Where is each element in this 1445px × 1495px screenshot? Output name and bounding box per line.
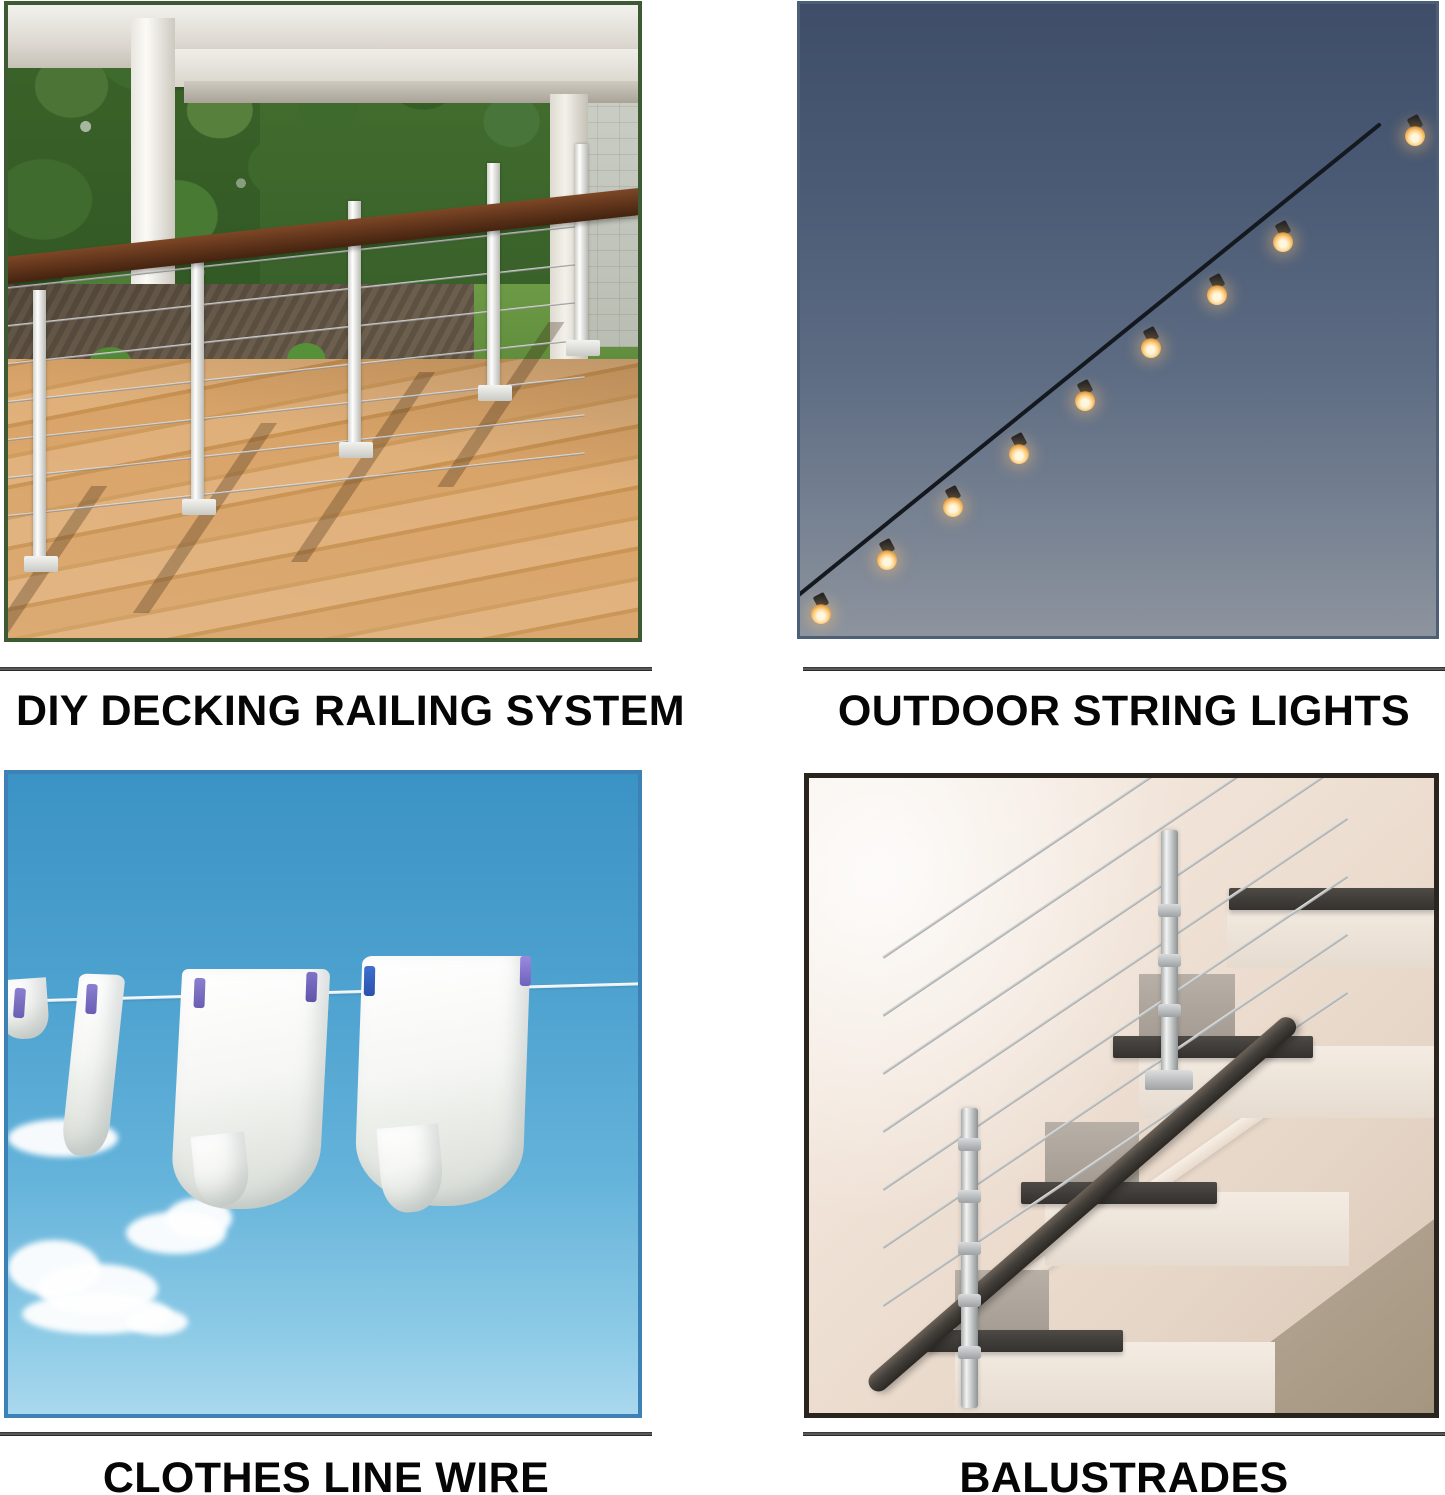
string-lights-photo: [797, 1, 1439, 639]
deck-scene: [8, 5, 638, 638]
caption-diy-decking-railing-system: DIY DECKING RAILING SYSTEM: [0, 667, 652, 736]
light-bulb: [942, 487, 964, 517]
wood-deck-floor: [8, 359, 638, 638]
caption-clothes-line-wire: CLOTHES LINE WIRE: [0, 1432, 652, 1495]
cable-fitting: [1158, 1004, 1181, 1017]
clothespin: [520, 956, 532, 986]
balustrade-scene: [809, 778, 1434, 1413]
bulb-glass: [1075, 391, 1095, 411]
railing-post-base: [566, 340, 600, 356]
caption-rule: [0, 1432, 652, 1436]
railing-post: [33, 290, 46, 569]
stair-face: [955, 1342, 1275, 1414]
clothespin: [193, 978, 205, 1008]
clothespin: [85, 984, 98, 1015]
cable-fitting: [1158, 954, 1181, 967]
balustrade-photo: [804, 773, 1439, 1418]
caption-label: CLOTHES LINE WIRE: [0, 1454, 652, 1495]
cable-fitting: [958, 1294, 981, 1307]
caption-rule: [0, 667, 652, 671]
caption-outdoor-string-lights: OUTDOOR STRING LIGHTS: [803, 667, 1445, 736]
clothespin: [13, 988, 26, 1019]
post-base-plate: [1145, 1070, 1193, 1090]
cable-fitting: [1158, 904, 1181, 917]
bulb-glass: [1009, 444, 1029, 464]
bulb-glass: [1405, 126, 1425, 146]
cloud: [128, 1309, 188, 1335]
infographic-sheet: DIY DECKING RAILING SYSTEM: [0, 0, 1445, 1495]
bulb-glass: [1207, 285, 1227, 305]
caption-label: OUTDOOR STRING LIGHTS: [803, 687, 1445, 736]
light-bulb: [1272, 222, 1294, 252]
railing-post-base: [339, 442, 373, 458]
railing-post: [575, 144, 588, 353]
bulb-glass: [1141, 338, 1161, 358]
railing-post-base: [478, 385, 512, 401]
railing-post-base: [182, 499, 216, 515]
stair-tread: [1229, 888, 1435, 910]
bulb-glass: [811, 604, 831, 624]
cable-fitting: [958, 1346, 981, 1359]
clothesline-photo: [4, 770, 642, 1418]
cable-fitting: [958, 1138, 981, 1151]
bulb-glass: [943, 497, 963, 517]
railing-post: [191, 246, 204, 512]
light-bulb: [876, 540, 898, 570]
caption-label: DIY DECKING RAILING SYSTEM: [0, 687, 652, 736]
bulb-glass: [877, 550, 897, 570]
caption-rule: [803, 1432, 1445, 1436]
light-bulb: [1206, 275, 1228, 305]
cloud: [8, 1240, 100, 1296]
clothespin: [364, 966, 376, 996]
light-bulb: [1404, 116, 1426, 146]
caption-rule: [803, 667, 1445, 671]
stair-tread: [927, 1330, 1123, 1352]
panel-diy-decking-railing-system[interactable]: [4, 1, 642, 642]
panel-balustrades[interactable]: [804, 773, 1439, 1418]
caption-balustrades: BALUSTRADES: [803, 1432, 1445, 1495]
railing-post: [487, 163, 500, 397]
panel-clothes-line-wire[interactable]: [4, 770, 642, 1418]
clothespin: [305, 972, 317, 1002]
light-bulb: [1008, 434, 1030, 464]
deck-railing-photo: [4, 1, 642, 642]
balustrade-post: [961, 1108, 978, 1408]
bulb-glass: [1273, 232, 1293, 252]
panel-outdoor-string-lights[interactable]: [797, 1, 1439, 639]
light-bulb: [1140, 328, 1162, 358]
cable-fitting: [958, 1242, 981, 1255]
caption-label: BALUSTRADES: [803, 1454, 1445, 1495]
light-bulb: [1074, 381, 1096, 411]
light-bulb: [810, 594, 832, 624]
cable-fitting: [958, 1190, 981, 1203]
railing-post-base: [24, 556, 58, 572]
